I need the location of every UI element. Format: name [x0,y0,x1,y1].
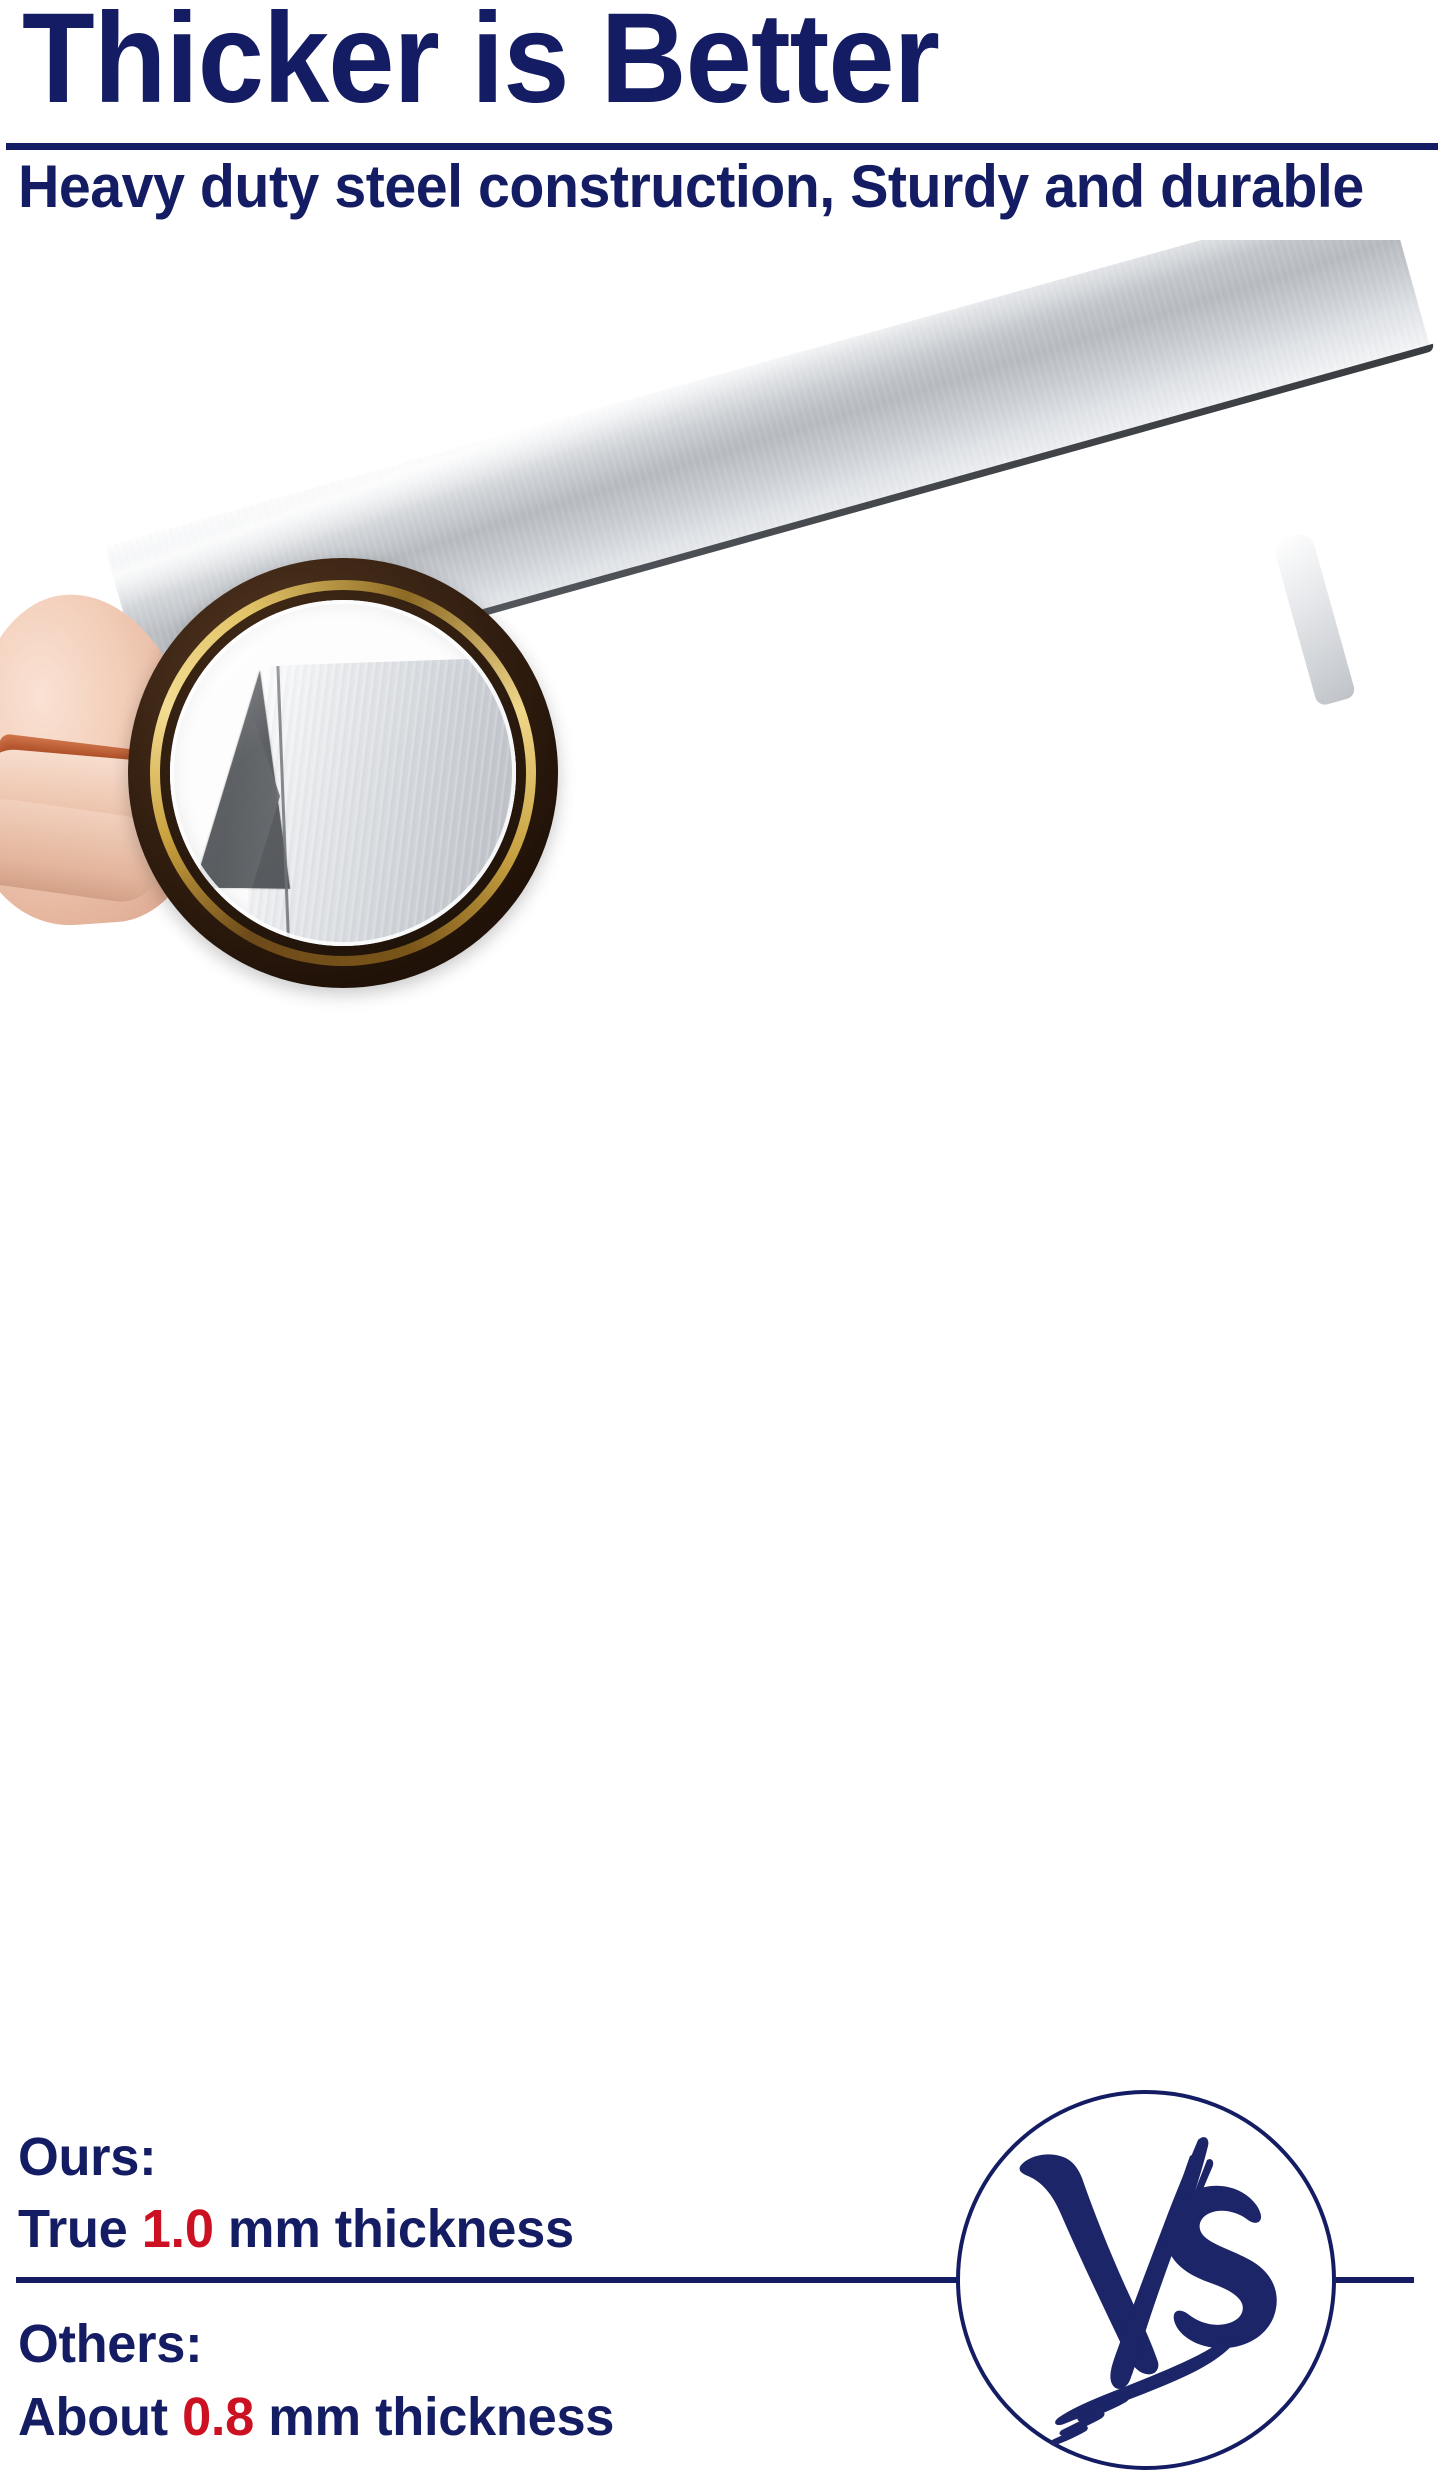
magnifier-lens [170,600,516,946]
magnifier [128,558,558,988]
header-section: Thicker is Better Heavy duty steel const… [0,0,1445,232]
page-title: Thicker is Better [22,0,939,124]
ours-thickness-number: 1.0 [142,2199,214,2259]
corner-guard-end-cap [1272,531,1357,707]
header-divider [6,143,1438,150]
comparison-section: Ours: True 1.0 mm thickness Others: Abou… [0,1040,1445,1440]
page-subtitle: Heavy duty steel construction, Sturdy an… [18,155,1364,219]
vs-icon [1002,2112,1302,2452]
ours-prefix: True [18,2199,142,2259]
vs-badge [956,2090,1336,2470]
others-value-line: About 0.8 mm thickness [18,2388,614,2446]
infographic-page: Thicker is Better Heavy duty steel const… [0,0,1445,1440]
others-thickness-number: 0.8 [182,2387,254,2447]
ours-value-line: True 1.0 mm thickness [18,2200,574,2258]
others-label: Others: [18,2315,202,2373]
ours-suffix: mm thickness [214,2199,574,2259]
comparison-divider-left [16,2277,958,2283]
product-photo [0,240,1445,1030]
others-suffix: mm thickness [254,2387,614,2447]
ours-label: Ours: [18,2128,156,2186]
comparison-divider-right [1336,2277,1414,2283]
others-prefix: About [18,2387,182,2447]
